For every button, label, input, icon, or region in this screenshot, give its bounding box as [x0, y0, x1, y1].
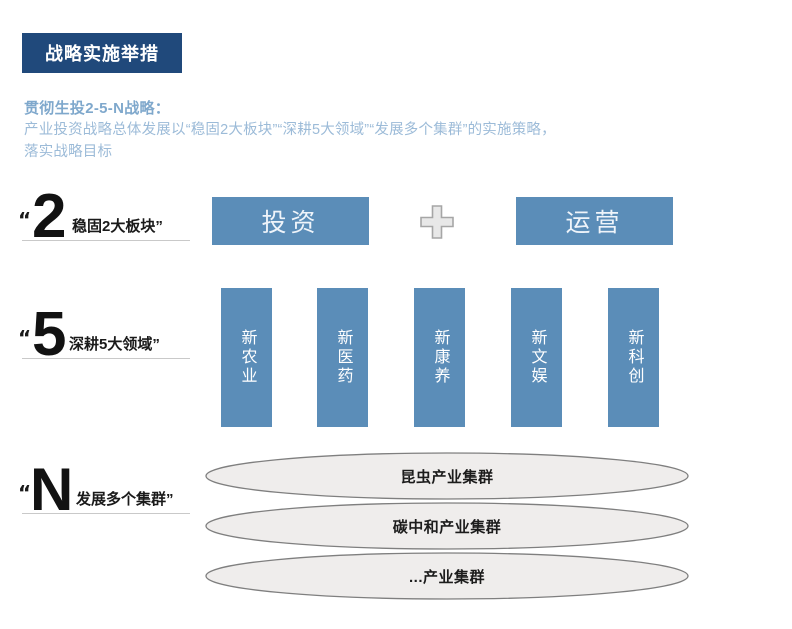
row-label-two: “ 2 稳固2大板块” [14, 182, 200, 254]
plus-icon [419, 204, 455, 240]
domain-bar-5[interactable]: 新科创 [608, 288, 659, 427]
numeral-two: 2 [32, 186, 64, 248]
intro-block: 贯彻生投2-5-N战略： 产业投资战略总体发展以“稳固2大板块”“深耕5大领域”… [24, 98, 764, 163]
domain-bar-2[interactable]: 新医药 [317, 288, 368, 427]
caption-two: 稳固2大板块” [72, 215, 163, 236]
numeral-five: 5 [32, 304, 64, 366]
domain-bar-5-label: 新科创 [623, 329, 645, 386]
row-label-five: “ 5 深耕5大领域” [14, 300, 200, 372]
quote-open-five: “ [18, 326, 31, 350]
caption-five: 深耕5大领域” [69, 333, 160, 354]
cluster-ellipse-3-label: ...产业集群 [205, 552, 689, 600]
intro-line-2: 落实战略目标 [24, 141, 764, 163]
block-operations[interactable]: 运营 [516, 197, 673, 245]
page-title-text: 战略实施举措 [45, 40, 159, 66]
domain-bar-2-label: 新医药 [332, 329, 354, 386]
numeral-n: N [30, 459, 71, 521]
page-title-badge: 战略实施举措 [22, 33, 182, 73]
domain-bar-4-label: 新文娱 [526, 329, 548, 386]
block-investment-label: 投资 [261, 203, 319, 239]
domain-bar-3[interactable]: 新康养 [414, 288, 465, 427]
row-divider-n [22, 513, 190, 514]
cluster-ellipse-2-label: 碳中和产业集群 [205, 502, 689, 550]
intro-line-1: 产业投资战略总体发展以“稳固2大板块”“深耕5大领域”“发展多个集群”的实施策略… [24, 119, 764, 141]
row-divider-two [22, 240, 190, 241]
caption-n: 发展多个集群” [76, 488, 174, 509]
cluster-ellipse-3[interactable]: ...产业集群 [205, 552, 689, 600]
row-divider-five [22, 358, 190, 359]
block-operations-label: 运营 [565, 203, 623, 239]
cluster-ellipse-2[interactable]: 碳中和产业集群 [205, 502, 689, 550]
domain-bar-1-label: 新农业 [236, 329, 258, 386]
row-label-n: “ N 发展多个集群” [14, 455, 200, 527]
intro-heading: 贯彻生投2-5-N战略： [24, 98, 764, 119]
domain-bar-4[interactable]: 新文娱 [511, 288, 562, 427]
cluster-ellipse-1-label: 昆虫产业集群 [205, 452, 689, 500]
block-investment[interactable]: 投资 [212, 197, 369, 245]
domain-bar-3-label: 新康养 [429, 329, 451, 386]
quote-open-two: “ [18, 208, 31, 232]
cluster-ellipse-1[interactable]: 昆虫产业集群 [205, 452, 689, 500]
domain-bar-1[interactable]: 新农业 [221, 288, 272, 427]
